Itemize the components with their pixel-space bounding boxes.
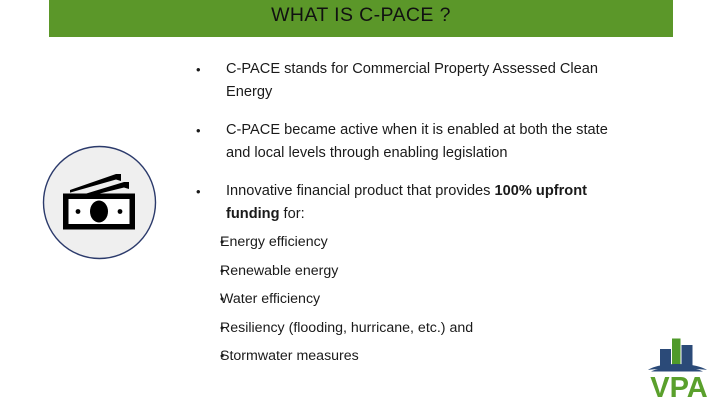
vpa-wordmark: VPA xyxy=(650,372,708,401)
bullet-text: C-PACE became active when it is enabled … xyxy=(226,119,623,164)
bullet-marker: • xyxy=(193,345,220,367)
money-cash-icon xyxy=(42,145,157,260)
bullet-text: C-PACE stands for Commercial Property As… xyxy=(226,58,623,103)
sub-bullet-item: • Stormwater measures xyxy=(193,345,623,367)
sub-bullet-text: Energy efficiency xyxy=(220,231,623,253)
bullet-item: • C-PACE stands for Commercial Property … xyxy=(193,58,623,103)
bullet-marker: • xyxy=(193,119,226,142)
sub-bullet-item: • Renewable energy xyxy=(193,260,623,282)
bullet-item: • Innovative financial product that prov… xyxy=(193,180,623,225)
bullet-marker: • xyxy=(193,58,226,81)
page-title: WHAT IS C-PACE ? xyxy=(49,4,673,27)
bullet-marker: • xyxy=(193,231,220,253)
bullet-content: • C-PACE stands for Commercial Property … xyxy=(193,58,623,374)
bullet-text-rich: Innovative financial product that provid… xyxy=(226,180,623,225)
bullet-marker: • xyxy=(193,288,220,310)
sub-bullet-item: • Resiliency (flooding, hurricane, etc.)… xyxy=(193,317,623,339)
sub-bullet-text: Renewable energy xyxy=(220,260,623,282)
bullet-lead: Innovative financial product that provid… xyxy=(226,183,495,199)
bullet-item: • C-PACE became active when it is enable… xyxy=(193,119,623,164)
vpa-logo: VPA xyxy=(645,337,713,401)
bullet-tail: for: xyxy=(280,206,305,222)
bullet-marker: • xyxy=(193,317,220,339)
building-icon xyxy=(648,339,707,372)
bullet-marker: • xyxy=(193,260,220,282)
slide-canvas: WHAT IS C-PACE ? • C-PA xyxy=(0,0,720,405)
sub-bullet-text: Stormwater measures xyxy=(220,345,623,367)
sub-bullet-text: Water efficiency xyxy=(220,288,623,310)
sub-bullet-item: • Water efficiency xyxy=(193,288,623,310)
title-banner: WHAT IS C-PACE ? xyxy=(49,0,673,37)
bullet-marker: • xyxy=(193,180,226,203)
sub-bullet-text: Resiliency (flooding, hurricane, etc.) a… xyxy=(220,317,623,339)
sub-bullet-item: • Energy efficiency xyxy=(193,231,623,253)
sub-bullet-list: • Energy efficiency • Renewable energy •… xyxy=(193,231,623,367)
